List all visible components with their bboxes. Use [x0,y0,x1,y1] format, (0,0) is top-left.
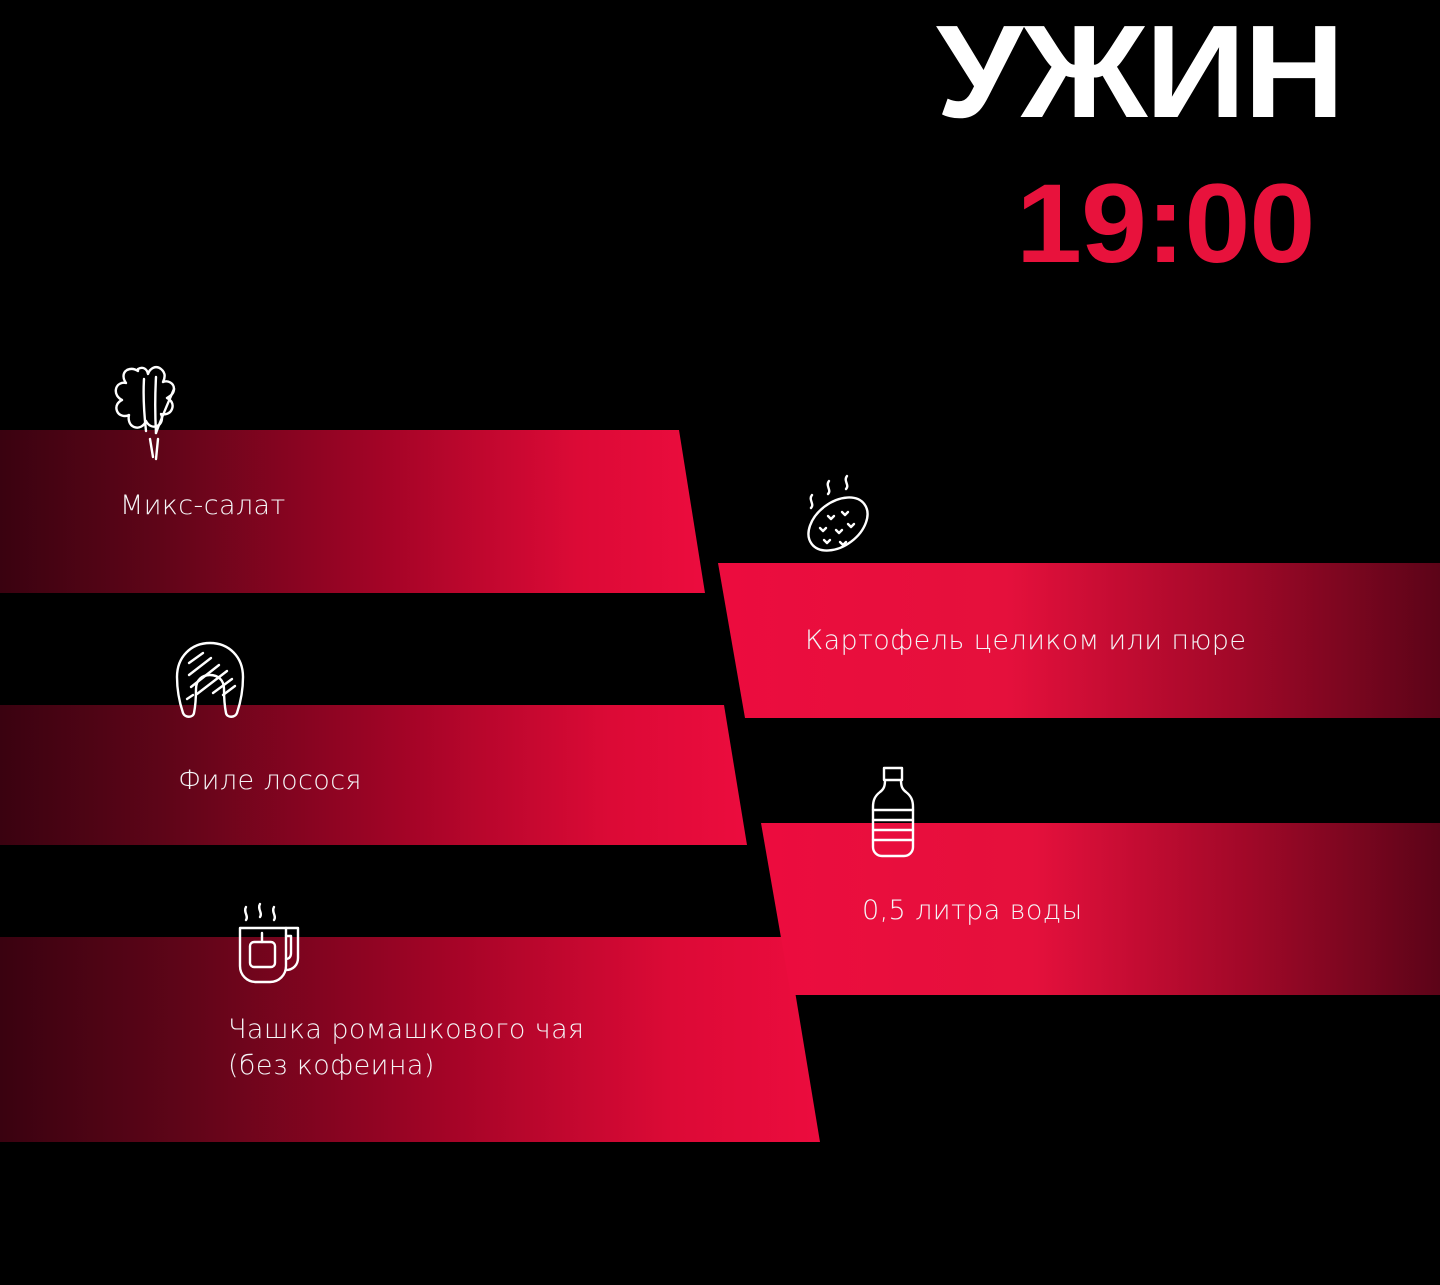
tea-cup-icon [222,896,317,991]
poster-header: УЖИН 19:00 [920,0,1440,310]
menu-bar-mix-salad [0,430,705,593]
menu-label-mix-salad: Микс-салат [120,488,286,524]
menu-label-water: 0,5 литра воды [862,893,1083,929]
menu-label-salmon-fillet: Филе лосося [178,763,362,799]
page-title: УЖИН [936,6,1343,138]
water-bottle-icon [854,762,932,862]
menu-bar-salmon-fillet [0,705,747,845]
bar-shape [0,705,747,845]
bar-shape [0,430,705,593]
salad-leaves-icon [108,357,204,453]
meal-time: 19:00 [1016,168,1314,280]
dinner-menu-poster: УЖИН 19:00 Микс [0,0,1440,1285]
menu-label-potato: Картофель целиком или пюре [805,623,1246,659]
menu-label-chamomile-tea: Чашка ромашкового чая (без кофеина) [228,1012,584,1083]
potato-icon [790,468,882,560]
salmon-fillet-icon [167,637,253,723]
